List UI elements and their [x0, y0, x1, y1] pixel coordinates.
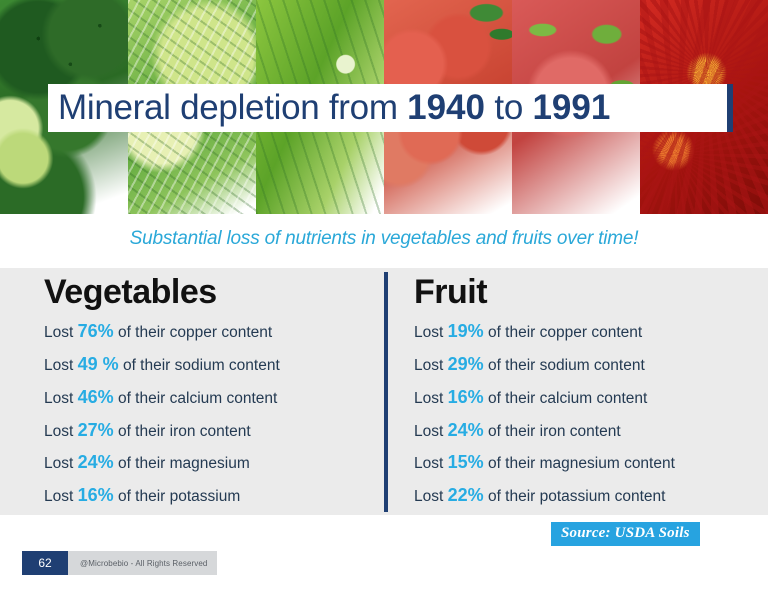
stat-percent: 16%	[78, 485, 114, 505]
stat-tail: of their copper content	[484, 324, 643, 341]
slide: Mineral depletion from 1940 to 1991 Subs…	[0, 0, 768, 593]
stat-tail: of their magnesium content	[484, 455, 675, 472]
list-item: Lost 16% of their potassium	[44, 479, 374, 512]
stat-lead: Lost	[414, 390, 448, 407]
list-item: Lost 19% of their copper content	[414, 315, 754, 348]
stat-lead: Lost	[414, 423, 448, 440]
list-item: Lost 22% of their potassium content	[414, 479, 754, 512]
list-item: Lost 29% of their sodium content	[414, 348, 754, 381]
content-band: Vegetables Lost 76% of their copper cont…	[0, 268, 768, 515]
column-divider	[384, 272, 388, 512]
stat-lead: Lost	[44, 455, 78, 472]
stat-lead: Lost	[44, 357, 78, 374]
title-prefix: Mineral depletion from	[58, 88, 407, 127]
stat-percent: 27%	[78, 420, 114, 440]
list-item: Lost 27% of their iron content	[44, 414, 374, 447]
title-mid: to	[485, 88, 532, 127]
title-band: Mineral depletion from 1940 to 1991	[48, 84, 727, 132]
vegetables-heading: Vegetables	[44, 274, 374, 311]
stat-tail: of their magnesium	[114, 455, 250, 472]
stat-percent: 19%	[448, 321, 484, 341]
stat-percent: 24%	[448, 420, 484, 440]
stat-lead: Lost	[44, 390, 78, 407]
stat-lead: Lost	[414, 324, 448, 341]
stat-tail: of their copper content	[114, 324, 273, 341]
page-number: 62	[22, 551, 68, 575]
stat-tail: of their potassium	[114, 488, 241, 505]
vegetables-stat-list: Lost 76% of their copper content Lost 49…	[44, 315, 374, 513]
list-item: Lost 24% of their iron content	[414, 414, 754, 447]
stat-lead: Lost	[44, 488, 78, 505]
stat-lead: Lost	[414, 488, 448, 505]
stat-percent: 49 %	[78, 354, 119, 374]
fruit-heading: Fruit	[414, 274, 754, 311]
vegetables-column: Vegetables Lost 76% of their copper cont…	[44, 274, 374, 512]
stat-tail: of their iron content	[484, 423, 621, 440]
fruit-column: Fruit Lost 19% of their copper content L…	[414, 274, 754, 512]
list-item: Lost 15% of their magnesium content	[414, 446, 754, 479]
title-year-from: 1940	[407, 88, 485, 127]
stat-percent: 16%	[448, 387, 484, 407]
page-title: Mineral depletion from 1940 to 1991	[58, 88, 610, 128]
stat-tail: of their sodium content	[119, 357, 280, 374]
list-item: Lost 24% of their magnesium	[44, 446, 374, 479]
list-item: Lost 46% of their calcium content	[44, 381, 374, 414]
stat-percent: 76%	[78, 321, 114, 341]
list-item: Lost 76% of their copper content	[44, 315, 374, 348]
stat-tail: of their potassium content	[484, 488, 666, 505]
stat-percent: 22%	[448, 485, 484, 505]
source-badge: Source: USDA Soils	[551, 522, 700, 546]
subtitle: Substantial loss of nutrients in vegetab…	[0, 228, 768, 250]
list-item: Lost 16% of their calcium content	[414, 381, 754, 414]
stat-percent: 15%	[448, 452, 484, 472]
stat-tail: of their calcium content	[484, 390, 648, 407]
stat-percent: 24%	[78, 452, 114, 472]
stat-tail: of their sodium content	[484, 357, 645, 374]
copyright-notice: @Microbebio - All Rights Reserved	[68, 551, 217, 575]
stat-percent: 29%	[448, 354, 484, 374]
fruit-stat-list: Lost 19% of their copper content Lost 29…	[414, 315, 754, 513]
stat-lead: Lost	[44, 423, 78, 440]
stat-lead: Lost	[44, 324, 78, 341]
list-item: Lost 49 % of their sodium content	[44, 348, 374, 381]
stat-tail: of their iron content	[114, 423, 251, 440]
stat-percent: 46%	[78, 387, 114, 407]
title-year-to: 1991	[532, 88, 610, 127]
stat-lead: Lost	[414, 455, 448, 472]
stat-lead: Lost	[414, 357, 448, 374]
footer-bar: 62 @Microbebio - All Rights Reserved	[22, 551, 217, 575]
stat-tail: of their calcium content	[114, 390, 278, 407]
